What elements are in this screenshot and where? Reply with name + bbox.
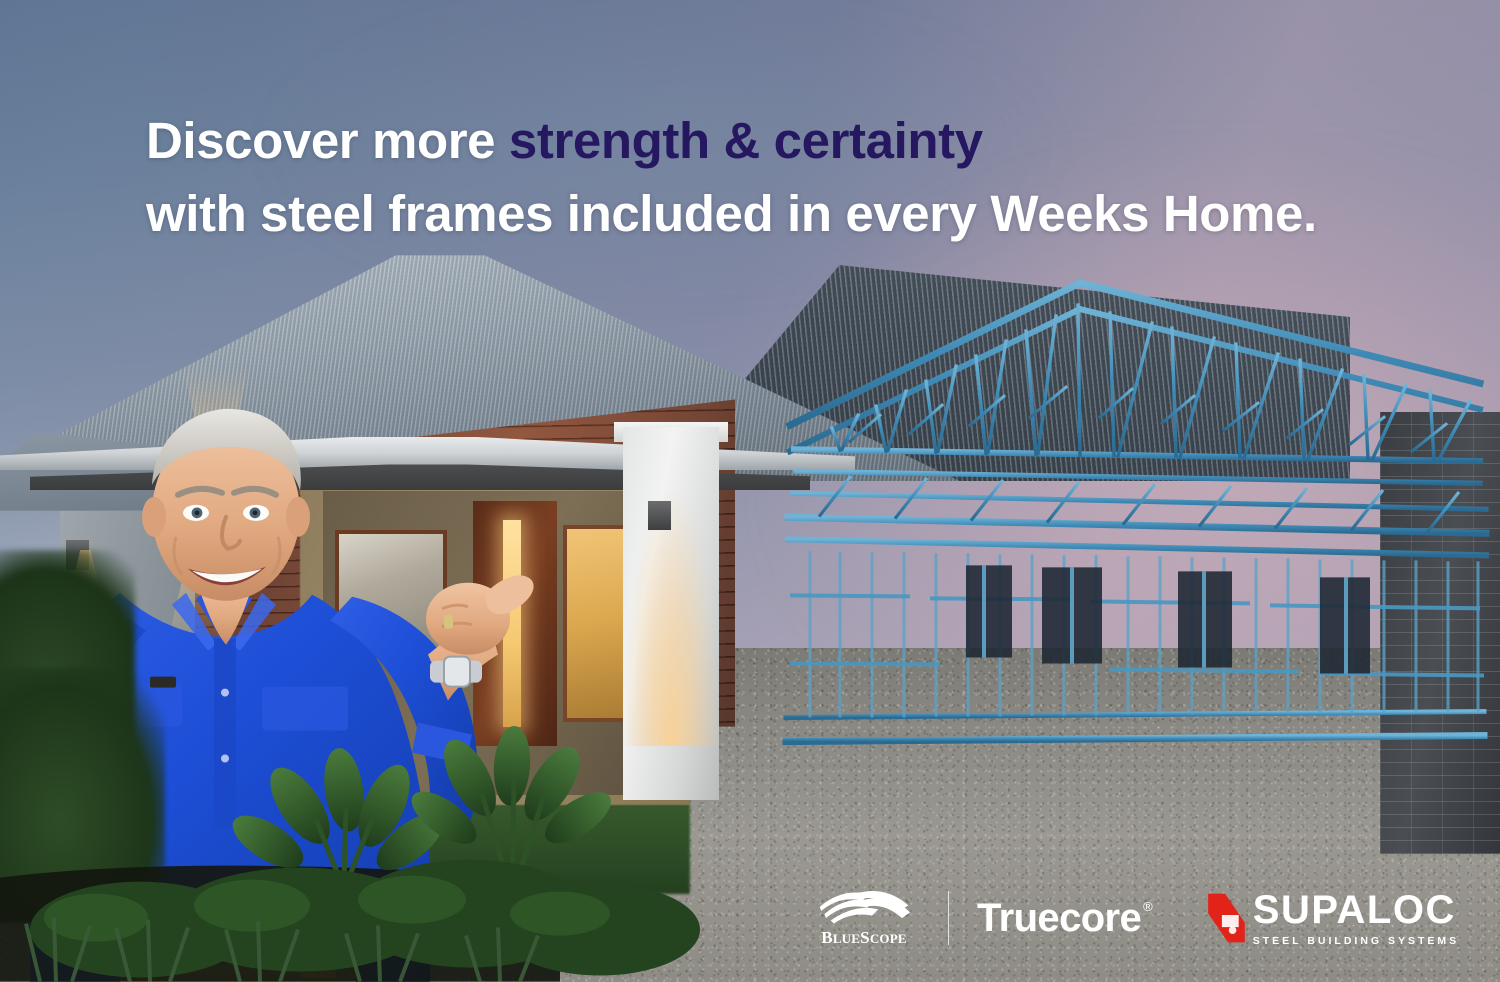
bs-lue: LUE: [833, 931, 860, 946]
logo-bar: BLUESCOPE Truecore ® SUPALOC STEEL BUILD…: [808, 882, 1459, 954]
bs-cope: COPE: [870, 931, 907, 946]
wall-light-icon: [648, 501, 671, 530]
supaloc-text-block: SUPALOC STEEL BUILDING SYSTEMS: [1253, 890, 1459, 947]
garden-bed: [0, 628, 780, 982]
headline-accent: strength & certainty: [509, 112, 983, 169]
logo-divider: [948, 891, 949, 945]
bs-s: S: [860, 928, 870, 947]
headline-line-2: with steel frames included in every Week…: [146, 177, 1366, 250]
supaloc-mark-icon: [1205, 889, 1251, 947]
bluescope-wordmark: BLUESCOPE: [821, 928, 906, 948]
bs-b: B: [821, 928, 833, 947]
logo-bluescope[interactable]: BLUESCOPE: [808, 888, 920, 948]
page-title: Discover more strength & certainty with …: [146, 104, 1366, 250]
logo-truecore[interactable]: Truecore ®: [977, 898, 1153, 938]
garden-svg: [0, 628, 780, 982]
registered-trademark-icon: ®: [1143, 900, 1153, 913]
bluescope-wave-icon: [816, 888, 912, 926]
supaloc-wordmark: SUPALOC: [1253, 890, 1459, 930]
headline-line-1: Discover more strength & certainty: [146, 104, 1366, 177]
supaloc-tagline: STEEL BUILDING SYSTEMS: [1253, 935, 1459, 947]
marketing-banner: Discover more strength & certainty with …: [0, 0, 1500, 982]
truecore-wordmark: Truecore: [977, 898, 1141, 938]
logo-supaloc[interactable]: SUPALOC STEEL BUILDING SYSTEMS: [1205, 889, 1459, 947]
headline-prefix: Discover more: [146, 112, 509, 169]
